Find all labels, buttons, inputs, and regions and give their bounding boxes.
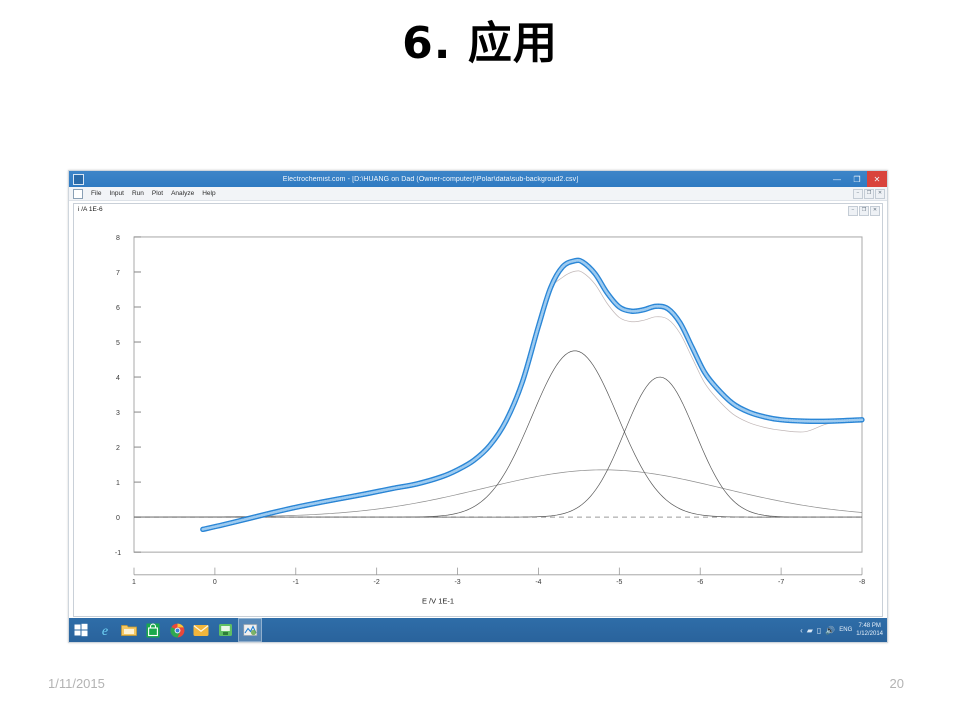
close-button[interactable]: ✕: [867, 171, 887, 187]
menu-item-run[interactable]: Run: [128, 190, 148, 197]
window-titlebar: Electrochemist.com - [D:\HUANG on Dad (O…: [69, 171, 887, 187]
app-icon: [73, 174, 84, 185]
svg-text:6: 6: [116, 304, 120, 312]
mdi-close-button[interactable]: ✕: [875, 189, 885, 199]
page-title: 6. 应用: [0, 18, 960, 71]
svg-text:E /V 1E-1: E /V 1E-1: [422, 597, 454, 606]
menu-item-analyze[interactable]: Analyze: [167, 190, 198, 197]
file-explorer-icon[interactable]: [118, 619, 140, 641]
folder-app-icon[interactable]: [214, 619, 236, 641]
language-indicator[interactable]: ENG: [839, 627, 852, 633]
svg-text:0: 0: [213, 578, 217, 586]
mdi-client-area: i /A 1E-6 − ❐ ✕ -101234567810-1-2-3-4-5-…: [69, 201, 887, 619]
menu-item-help[interactable]: Help: [198, 190, 219, 197]
footer-date: 1/11/2015: [48, 676, 105, 691]
mail-icon[interactable]: [190, 619, 212, 641]
battery-icon[interactable]: ▯: [817, 626, 821, 635]
window-title-text: Electrochemist.com - [D:\HUANG on Dad (O…: [84, 176, 827, 183]
mdi-window-controls: − ❐ ✕: [853, 189, 885, 199]
windows-start-icon[interactable]: [70, 619, 92, 641]
plot-child-window: i /A 1E-6 − ❐ ✕ -101234567810-1-2-3-4-5-…: [73, 203, 883, 617]
show-hidden-icons-icon[interactable]: ‹: [800, 626, 803, 635]
svg-text:-7: -7: [778, 578, 784, 586]
svg-text:e: e: [102, 624, 108, 638]
minimize-button[interactable]: —: [827, 171, 847, 187]
document-icon: [73, 189, 83, 199]
menu-bar: File Input Run Plot Analyze Help − ❐ ✕: [69, 187, 887, 201]
plot-canvas: -101234567810-1-2-3-4-5-6-7-8E /V 1E-1: [74, 204, 882, 616]
svg-text:-1: -1: [293, 578, 299, 586]
svg-text:-4: -4: [535, 578, 541, 586]
svg-text:5: 5: [116, 339, 120, 347]
clock-time: 7:48 PM: [856, 622, 883, 630]
svg-text:-3: -3: [454, 578, 460, 586]
clock[interactable]: 7:48 PM 1/12/2014: [856, 622, 883, 638]
svg-text:4: 4: [116, 374, 120, 382]
svg-text:-1: -1: [115, 549, 121, 557]
network-icon[interactable]: ▰: [807, 626, 813, 635]
svg-text:1: 1: [132, 578, 136, 586]
svg-text:2: 2: [116, 444, 120, 452]
footer-page-number: 20: [890, 676, 904, 691]
slide: 6. 应用 Electrochemist.com - [D:\HUANG on …: [0, 0, 960, 720]
mdi-minimize-button[interactable]: −: [853, 189, 863, 199]
menu-item-plot[interactable]: Plot: [148, 190, 167, 197]
volume-icon[interactable]: 🔊: [825, 626, 835, 635]
svg-text:-8: -8: [859, 578, 865, 586]
svg-text:-5: -5: [616, 578, 622, 586]
internet-explorer-icon[interactable]: e: [94, 619, 116, 641]
system-tray: ‹ ▰ ▯ 🔊 ENG 7:48 PM 1/12/2014: [800, 622, 887, 638]
svg-text:1: 1: [116, 479, 120, 487]
mdi-restore-button[interactable]: ❐: [864, 189, 874, 199]
chrome-icon[interactable]: [166, 619, 188, 641]
voltammogram-plot: -101234567810-1-2-3-4-5-6-7-8E /V 1E-1: [74, 204, 882, 616]
svg-text:-6: -6: [697, 578, 703, 586]
svg-text:-2: -2: [374, 578, 380, 586]
svg-text:0: 0: [116, 514, 120, 522]
electrochemist-app-window: Electrochemist.com - [D:\HUANG on Dad (O…: [68, 170, 888, 643]
svg-text:8: 8: [116, 234, 120, 242]
electrochemist-app-icon[interactable]: [238, 618, 262, 642]
svg-text:3: 3: [116, 409, 120, 417]
svg-text:7: 7: [116, 269, 120, 277]
restore-button[interactable]: ❐: [847, 171, 867, 187]
menu-item-input[interactable]: Input: [105, 190, 127, 197]
clock-date: 1/12/2014: [856, 630, 883, 638]
windows-store-icon[interactable]: [142, 619, 164, 641]
windows-taskbar: e: [69, 618, 887, 642]
menu-item-file[interactable]: File: [87, 190, 105, 197]
